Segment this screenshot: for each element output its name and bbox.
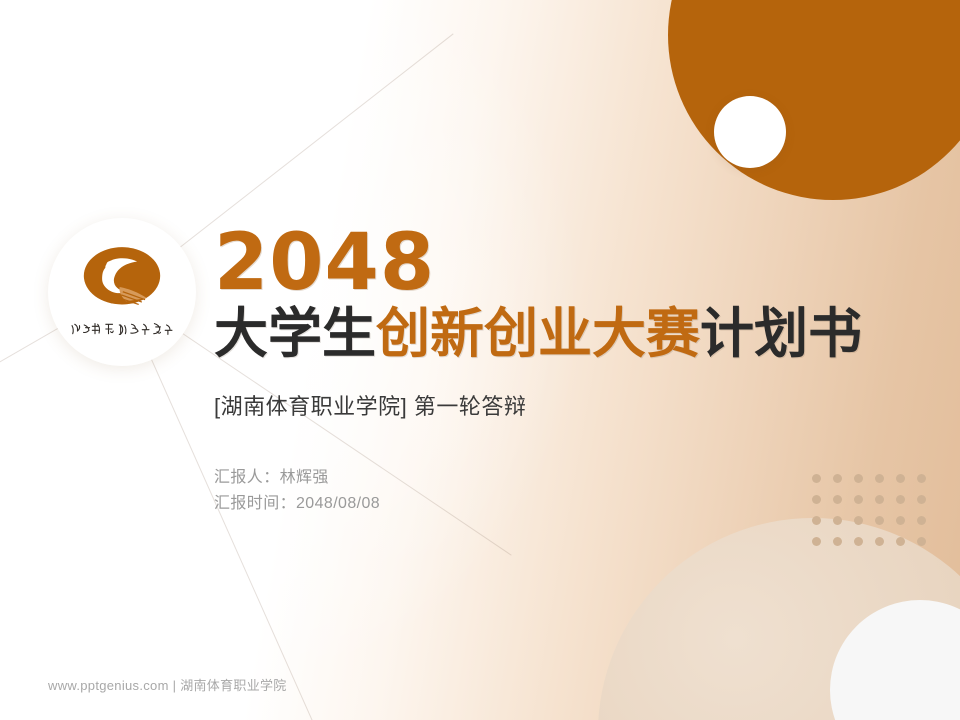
logo-calligraphy-text-icon <box>68 318 176 340</box>
title-text-block: 2048 大学生创新创业大赛计划书 [湖南体育职业学院] 第一轮答辩 汇报人：林… <box>214 226 914 517</box>
page-title: 大学生创新创业大赛计划书 <box>214 305 914 363</box>
headline-tail: 计划书 <box>700 304 862 364</box>
year-heading: 2048 <box>214 226 914 301</box>
presenter-line: 汇报人：林辉强 <box>214 465 914 491</box>
footer-credit: www.pptgenius.com | 湖南体育职业学院 <box>48 675 287 694</box>
presentation-meta: 汇报人：林辉强 汇报时间：2048/08/08 <box>214 465 914 517</box>
subtitle: [湖南体育职业学院] 第一轮答辩 <box>214 389 914 421</box>
headline-lead: 大学生 <box>214 304 376 364</box>
date-line: 汇报时间：2048/08/08 <box>214 491 914 517</box>
headline-highlight: 创新创业大赛 <box>376 304 700 364</box>
institution-logo-badge <box>48 218 196 366</box>
decorative-circle-white-small <box>714 96 786 168</box>
title-slide: 2048 大学生创新创业大赛计划书 [湖南体育职业学院] 第一轮答辩 汇报人：林… <box>0 0 960 720</box>
bird-swoosh-emblem-icon <box>78 244 166 314</box>
